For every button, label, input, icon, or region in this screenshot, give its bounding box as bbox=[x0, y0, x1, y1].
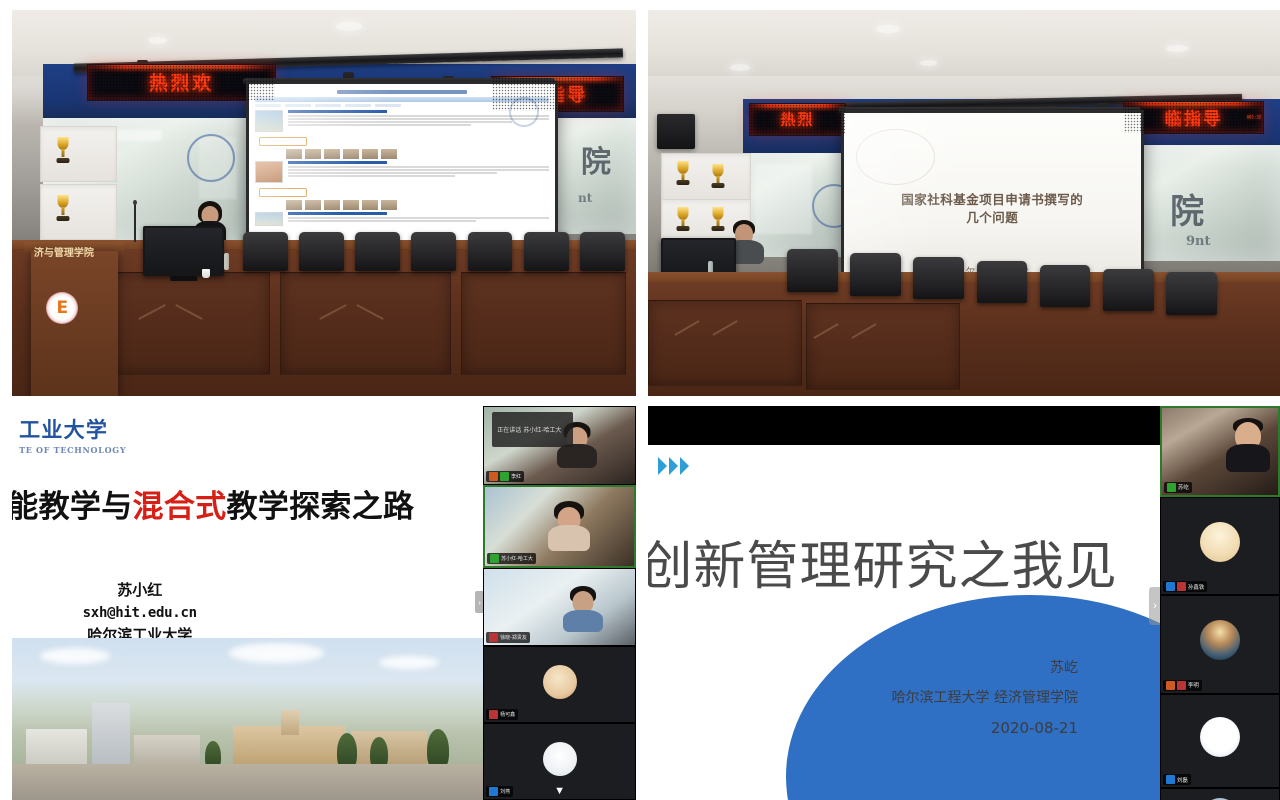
chair bbox=[299, 232, 344, 271]
participant-avatar bbox=[543, 742, 577, 776]
trophy-shelf bbox=[40, 184, 117, 240]
participant-tile[interactable]: 刘磊 bbox=[1160, 694, 1280, 789]
mic-off-icon bbox=[1177, 681, 1186, 690]
slide-email: sxh@hit.edu.cn bbox=[83, 603, 197, 625]
projection-screen-frame bbox=[246, 81, 558, 245]
participant-badge: 李红 bbox=[486, 471, 524, 482]
podium-label: 济与管理学院 bbox=[34, 244, 94, 259]
active-speaker-label: 正在讲话 苏小红-哈工大 bbox=[497, 425, 561, 434]
building-tower bbox=[92, 703, 130, 768]
monitor bbox=[143, 226, 224, 276]
university-seal bbox=[187, 134, 235, 182]
trophy-shelf bbox=[40, 126, 117, 182]
participant-badge: 杨可鑫 bbox=[486, 709, 518, 720]
projection-screen: 国家社科基金项目申请书撰写的 几个问题 哈尔滨工业大学 于渤 bbox=[844, 113, 1141, 271]
photo-lecture-hall-1: 院 nt 热烈欢 临指导 bbox=[12, 10, 636, 396]
slide-title-prefix: 能教学与 bbox=[12, 489, 133, 525]
chair bbox=[1040, 265, 1091, 307]
participant-badge: 李明 bbox=[1163, 680, 1202, 691]
cloud bbox=[40, 648, 110, 664]
chair bbox=[850, 253, 901, 295]
mic-on-icon bbox=[1167, 483, 1176, 492]
participant-tile[interactable]: 杨可鑫 bbox=[483, 646, 636, 723]
screen-share-area: 创新管理研究之我见 苏屹 哈尔滨工程大学 经济管理学院 2020-08-21 bbox=[648, 406, 1160, 800]
glass-reflection bbox=[755, 164, 812, 233]
chair bbox=[355, 232, 400, 271]
photo-webinar-2: 创新管理研究之我见 苏屹 哈尔滨工程大学 经济管理学院 2020-08-21 ›… bbox=[648, 406, 1280, 800]
screen-share-area: 工业大学 TE OF TECHNOLOGY 能教学与混合式教学探索之路 苏小红 … bbox=[12, 406, 483, 800]
microphone bbox=[134, 203, 136, 242]
participant-tile[interactable]: 徐晓-郑贵友 bbox=[483, 568, 636, 647]
chair bbox=[913, 257, 964, 299]
chair bbox=[1103, 269, 1154, 311]
chair bbox=[1166, 272, 1217, 314]
slide-presenter: 苏小红 bbox=[83, 579, 197, 602]
participant-name: 李红 bbox=[511, 473, 521, 480]
campus-photo bbox=[12, 638, 483, 800]
ceiling-light bbox=[336, 22, 362, 31]
dais-panel bbox=[648, 300, 802, 387]
participant-avatar bbox=[543, 665, 577, 699]
water-bottle bbox=[224, 253, 229, 270]
participant-tile-active[interactable]: 苏屹 bbox=[1160, 406, 1280, 497]
participant-strip[interactable]: 正在讲话 苏小红-哈工大 › 李红 bbox=[483, 406, 636, 800]
speaker-box bbox=[657, 114, 695, 149]
ceiling-light bbox=[1166, 45, 1188, 52]
trophy-shelf bbox=[661, 153, 751, 201]
trophy bbox=[56, 195, 70, 221]
hit-logo: 工业大学 TE OF TECHNOLOGY bbox=[19, 414, 126, 455]
trophy bbox=[676, 207, 690, 231]
user-icon bbox=[1166, 582, 1175, 591]
chair bbox=[411, 232, 456, 271]
participant-badge: 苏屹 bbox=[1164, 482, 1192, 493]
cloud bbox=[379, 656, 439, 669]
trophy bbox=[676, 161, 690, 185]
chair bbox=[787, 249, 838, 291]
slide-title-highlight: 混合式 bbox=[133, 489, 227, 525]
participant-badge: 孙鑫铁 bbox=[1163, 581, 1208, 592]
wall-character-en: nt bbox=[578, 191, 592, 205]
participant-name: 杨可鑫 bbox=[500, 711, 515, 718]
podium-logo: E bbox=[46, 292, 78, 324]
slide-title: 创新管理研究之我见 bbox=[648, 524, 1118, 599]
slide-affiliation: 哈尔滨工程大学 经济管理学院 bbox=[892, 684, 1078, 713]
slide-presenter: 苏屹 bbox=[892, 654, 1078, 683]
user-icon bbox=[489, 787, 498, 796]
slide-title-suffix: 教学探索之路 bbox=[226, 489, 414, 525]
hit-logo-cn: 工业大学 bbox=[19, 414, 126, 444]
participant-figure bbox=[1226, 420, 1270, 472]
slide-title: 能教学与混合式教学探索之路 bbox=[12, 481, 414, 526]
building bbox=[26, 729, 87, 768]
mic-off-icon bbox=[489, 710, 498, 719]
slide-date: 2020-08-21 bbox=[892, 713, 1078, 745]
podium-logo-letter: E bbox=[57, 298, 69, 318]
projection-screen-frame: 国家社科基金项目申请书撰写的 几个问题 哈尔滨工业大学 于渤 bbox=[841, 110, 1144, 274]
chair bbox=[524, 232, 569, 271]
led-text: 临指导 bbox=[1124, 105, 1263, 130]
trophy bbox=[711, 164, 725, 188]
participant-avatar bbox=[1200, 522, 1240, 562]
participant-name: 刘磊 bbox=[1177, 776, 1188, 784]
participant-name: 孙鑫铁 bbox=[1188, 583, 1205, 591]
dais-panel bbox=[461, 272, 625, 374]
mic-off-icon bbox=[1177, 582, 1186, 591]
participant-name: 苏小红-哈工大 bbox=[501, 555, 533, 562]
dais-panel bbox=[280, 272, 450, 374]
user-icon bbox=[1166, 681, 1175, 690]
participant-badge: 刘磊 bbox=[1163, 774, 1191, 785]
participant-avatar bbox=[1200, 620, 1240, 660]
mic-icon bbox=[500, 472, 509, 481]
user-icon bbox=[1166, 775, 1175, 784]
participant-tile-active[interactable]: 苏小红-哈工大 bbox=[483, 485, 636, 568]
scroll-down-caret[interactable]: ▼ bbox=[554, 786, 565, 797]
chair bbox=[468, 232, 513, 271]
chair bbox=[243, 232, 288, 271]
participant-name: 苏屹 bbox=[1178, 483, 1189, 491]
chair bbox=[580, 232, 625, 271]
slide-meta: 苏屹 哈尔滨工程大学 经济管理学院 2020-08-21 bbox=[892, 654, 1078, 744]
podium bbox=[31, 251, 118, 396]
participant-badge: 苏小红-哈工大 bbox=[487, 553, 536, 564]
led-text: 热烈 bbox=[750, 109, 845, 130]
mic-off-icon bbox=[489, 633, 498, 642]
slide-top-bar bbox=[648, 406, 1160, 445]
wall-character: 院 bbox=[1170, 184, 1204, 233]
participant-strip[interactable]: › 苏屹 孙鑫铁 bbox=[1160, 406, 1280, 800]
hit-logo-en: TE OF TECHNOLOGY bbox=[19, 445, 126, 455]
wall-character: 院 bbox=[581, 137, 611, 181]
participant-tile[interactable] bbox=[1160, 788, 1280, 800]
photo-lecture-hall-2: 院 9nt 热烈 临指导 A01:32 bbox=[648, 10, 1280, 396]
participant-name: 刘燕 bbox=[500, 788, 510, 795]
building bbox=[134, 735, 200, 767]
plaza bbox=[12, 764, 483, 800]
participant-avatar bbox=[1200, 717, 1240, 757]
participant-tile[interactable]: 孙鑫铁 bbox=[1160, 497, 1280, 596]
participant-tile[interactable]: 刘燕 ▼ bbox=[483, 723, 636, 800]
video-off-icon bbox=[489, 472, 498, 481]
slide-presenter-block: 苏小红 sxh@hit.edu.cn 哈尔滨工业大学 bbox=[83, 579, 197, 647]
dais-panel bbox=[99, 272, 269, 374]
chair bbox=[977, 261, 1028, 303]
paper-cup bbox=[202, 269, 210, 278]
photo-webinar-1: 工业大学 TE OF TECHNOLOGY 能教学与混合式教学探索之路 苏小红 … bbox=[12, 406, 636, 800]
cloud bbox=[229, 643, 324, 663]
participant-name: 李明 bbox=[1188, 681, 1199, 689]
participant-name: 徐晓-郑贵友 bbox=[500, 634, 527, 641]
chevron-decoration-icon bbox=[658, 457, 689, 475]
dais-panel bbox=[806, 303, 960, 390]
wall-character-en: 9nt bbox=[1186, 234, 1211, 249]
mic-on-icon bbox=[490, 554, 499, 563]
photo-collage: 院 nt 热烈欢 临指导 bbox=[0, 0, 1280, 800]
active-speaker-banner: 正在讲话 苏小红-哈工大 bbox=[492, 412, 572, 447]
participant-badge: 刘燕 bbox=[486, 786, 513, 797]
participant-badge: 徐晓-郑贵友 bbox=[486, 632, 530, 643]
participant-tile[interactable]: 李明 bbox=[1160, 595, 1280, 694]
led-clock: A01:32 bbox=[1247, 115, 1261, 120]
trophy bbox=[56, 137, 70, 163]
participant-figure bbox=[563, 588, 603, 632]
clock-tower bbox=[281, 710, 300, 736]
led-marquee-right: 临指导 A01:32 bbox=[1123, 101, 1264, 134]
building bbox=[351, 731, 426, 768]
participant-figure bbox=[548, 503, 590, 551]
led-marquee-left: 热烈 bbox=[749, 103, 846, 136]
projection-screen bbox=[249, 84, 555, 242]
